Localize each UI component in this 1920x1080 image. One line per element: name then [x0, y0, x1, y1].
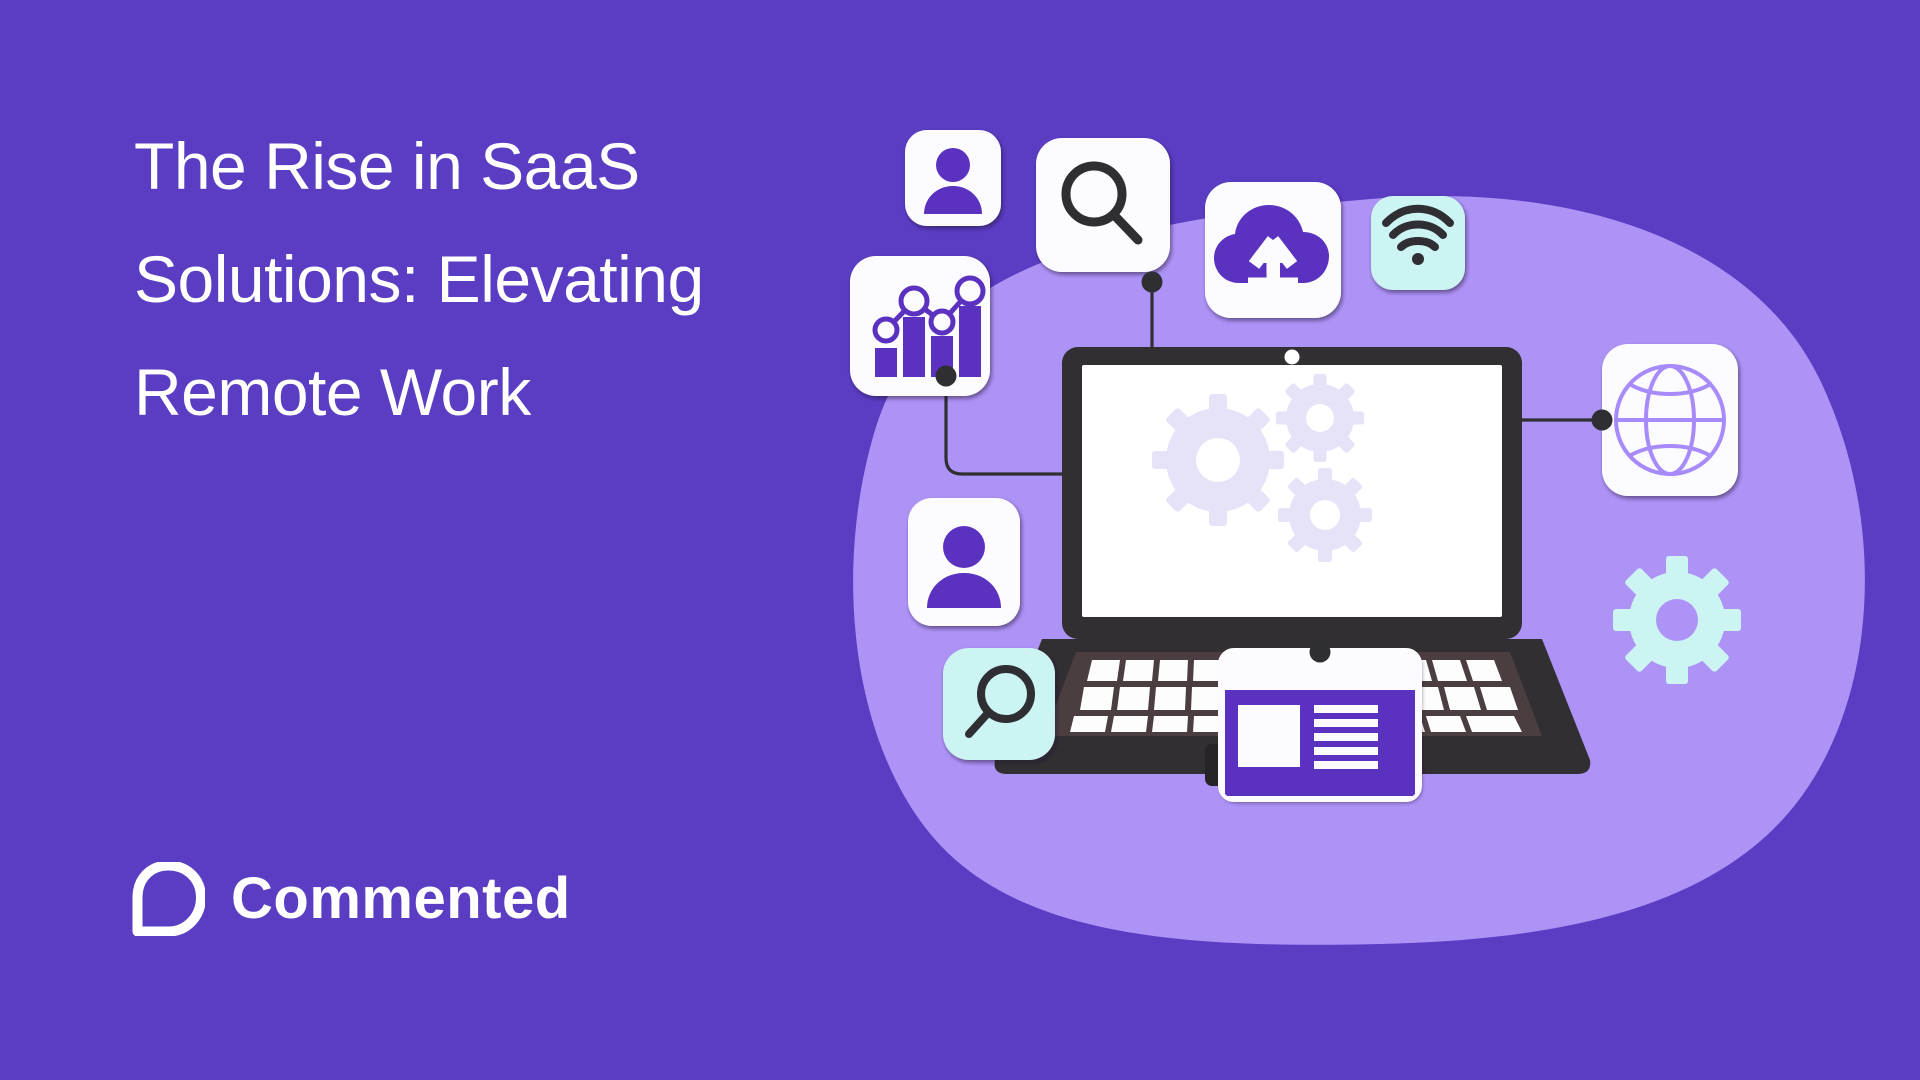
brand-lockup: Commented — [131, 862, 571, 936]
card-globe[interactable] — [1592, 344, 1739, 496]
brand-name: Commented — [231, 870, 571, 928]
card-user-left[interactable] — [908, 498, 1020, 626]
card-webpage[interactable] — [1220, 642, 1420, 801]
card-search-bottom[interactable] — [943, 648, 1055, 760]
card-user-top[interactable] — [905, 130, 1001, 226]
connector-dot-search-top — [1142, 272, 1163, 293]
webpage-layout-icon — [1225, 690, 1415, 796]
poster-canvas: The Rise in SaaS Solutions: Elevating Re… — [0, 0, 1920, 1080]
gear-icon — [1613, 556, 1741, 684]
saas-illustration — [820, 60, 1920, 1080]
card-search-top[interactable] — [1036, 138, 1170, 293]
commented-logo-icon — [131, 862, 205, 936]
page-title: The Rise in SaaS Solutions: Elevating Re… — [134, 110, 894, 449]
connector-dot-analytics — [936, 366, 957, 387]
card-wifi[interactable] — [1371, 196, 1465, 290]
card-analytics[interactable] — [850, 256, 990, 396]
card-cloud-upload[interactable] — [1205, 182, 1341, 318]
connector-dot-webpage — [1310, 642, 1331, 663]
connector-dot-globe — [1592, 410, 1613, 431]
